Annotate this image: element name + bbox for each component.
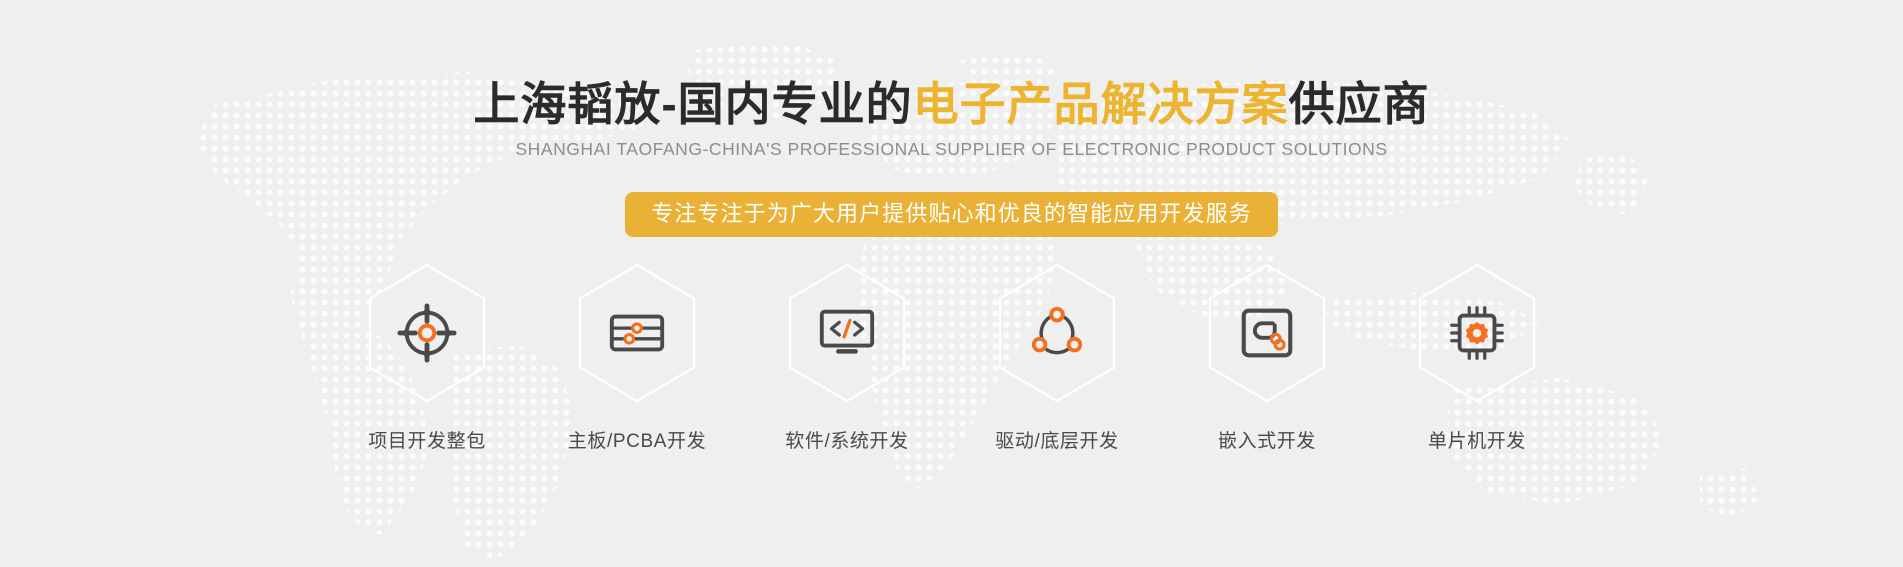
feature-item-driver-lowlevel[interactable]: 驱动/底层开发 bbox=[952, 262, 1162, 453]
promotional-banner: 上海韬放-国内专业的电子产品解决方案供应商 SHANGHAI TAOFANG-C… bbox=[0, 0, 1903, 567]
service-feature-row: 项目开发整包 主板/PCBA开发 bbox=[322, 262, 1582, 453]
feature-item-project-package[interactable]: 项目开发整包 bbox=[322, 262, 532, 453]
hexagon-frame bbox=[365, 262, 489, 404]
feature-label: 驱动/底层开发 bbox=[995, 426, 1118, 453]
circuit-board-icon bbox=[606, 302, 668, 364]
title-segment-trailing: 供应商 bbox=[1289, 78, 1430, 130]
page-subtitle: SHANGHAI TAOFANG-CHINA'S PROFESSIONAL SU… bbox=[0, 139, 1903, 160]
embedded-chip-link-icon bbox=[1236, 302, 1298, 364]
feature-label: 单片机开发 bbox=[1428, 426, 1526, 453]
node-network-icon bbox=[1026, 302, 1088, 364]
feature-item-software-system[interactable]: 软件/系统开发 bbox=[742, 262, 952, 453]
hexagon-frame bbox=[575, 262, 699, 404]
hexagon-frame bbox=[785, 262, 909, 404]
feature-item-mcu[interactable]: 单片机开发 bbox=[1372, 262, 1582, 453]
microcontroller-gear-icon bbox=[1446, 302, 1508, 364]
tagline-row: 专注专注于为广大用户提供贴心和优良的智能应用开发服务 bbox=[0, 192, 1903, 237]
monitor-code-icon bbox=[816, 302, 878, 364]
feature-label: 软件/系统开发 bbox=[785, 426, 908, 453]
feature-label: 项目开发整包 bbox=[368, 426, 486, 453]
title-segment-leading: 上海韬放-国内专业的 bbox=[473, 78, 912, 130]
crosshair-target-icon bbox=[396, 302, 458, 364]
hexagon-frame bbox=[995, 262, 1119, 404]
feature-label: 嵌入式开发 bbox=[1218, 426, 1316, 453]
feature-label: 主板/PCBA开发 bbox=[568, 426, 706, 453]
hero-heading-block: 上海韬放-国内专业的电子产品解决方案供应商 SHANGHAI TAOFANG-C… bbox=[0, 80, 1903, 160]
feature-item-embedded[interactable]: 嵌入式开发 bbox=[1162, 262, 1372, 453]
page-title: 上海韬放-国内专业的电子产品解决方案供应商 bbox=[0, 80, 1903, 130]
title-segment-highlight: 电子产品解决方案 bbox=[913, 78, 1289, 130]
tagline-badge: 专注专注于为广大用户提供贴心和优良的智能应用开发服务 bbox=[625, 192, 1278, 237]
hexagon-frame bbox=[1415, 262, 1539, 404]
feature-item-pcba[interactable]: 主板/PCBA开发 bbox=[532, 262, 742, 453]
hexagon-frame bbox=[1205, 262, 1329, 404]
